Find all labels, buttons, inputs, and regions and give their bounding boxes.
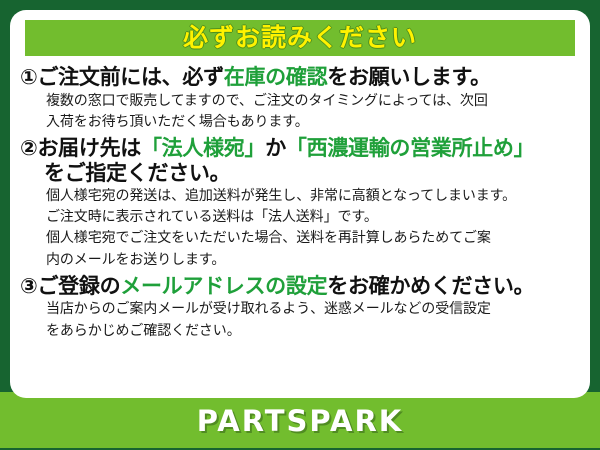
notice-item-headline: ①ご注文前には、必ず在庫の確認をお願いします。 bbox=[20, 66, 582, 90]
headline-text: ②お届け先は bbox=[20, 136, 141, 160]
notice-body-line: 複数の窓口で販売してますので、ご注文のタイミングによっては、次回 bbox=[46, 91, 582, 112]
page-title: 必ずお読みください bbox=[25, 20, 575, 56]
notice-body-line: をあらかじめご確認ください。 bbox=[46, 321, 582, 342]
notice-item-list: ①ご注文前には、必ず在庫の確認をお願いします。複数の窓口で販売してますので、ご注… bbox=[20, 66, 582, 346]
notice-item: ②お届け先は「法人様宛」か「西濃運輸の営業所止め」をご指定ください。個人様宅宛の… bbox=[20, 137, 582, 271]
notice-body-line: 入荷をお待ち頂いただく場合もあります。 bbox=[46, 112, 582, 133]
notice-body-line: 内のメールをお送りします。 bbox=[46, 250, 582, 271]
notice-body-line: 個人様宅宛でご注文をいただいた場合、送料を再計算しあらためてご案 bbox=[46, 228, 582, 249]
notice-item-headline: ②お届け先は「法人様宛」か「西濃運輸の営業所止め」 bbox=[20, 137, 582, 161]
brand-logo: PARTSPARK bbox=[0, 404, 600, 438]
notice-item-headline: ③ご登録のメールアドレスの設定をお確かめください。 bbox=[20, 275, 582, 299]
headline-accent-text: 在庫の確認 bbox=[224, 65, 328, 89]
header-banner: 必ずお読みください bbox=[25, 20, 575, 56]
notice-body-line: 当店からのご案内メールが受け取れるよう、迷惑メールなどの受信設定 bbox=[46, 299, 582, 320]
notice-item-headline-continuation: をご指定ください。 bbox=[20, 161, 582, 185]
notice-body-line: ご注文時に表示されている送料は「法人送料」です。 bbox=[46, 207, 582, 228]
headline-text: か bbox=[265, 136, 286, 160]
notice-item-body: 複数の窓口で販売してますので、ご注文のタイミングによっては、次回入荷をお待ち頂い… bbox=[20, 91, 582, 134]
headline-accent-text: 「法人様宛」 bbox=[141, 136, 265, 160]
headline-text: をお確かめください。 bbox=[327, 274, 534, 298]
notice-item: ①ご注文前には、必ず在庫の確認をお願いします。複数の窓口で販売してますので、ご注… bbox=[20, 66, 582, 133]
notice-item-body: 個人様宅宛の発送は、追加送料が発生し、非常に高額となってしまいます。ご注文時に表… bbox=[20, 186, 582, 271]
headline-text: をお願いします。 bbox=[327, 65, 491, 89]
notice-card: 必ずお読みください ①ご注文前には、必ず在庫の確認をお願いします。複数の窓口で販… bbox=[0, 0, 600, 450]
headline-text: ③ご登録の bbox=[20, 274, 120, 298]
headline-text: ①ご注文前には、必ず bbox=[20, 65, 224, 89]
notice-item: ③ご登録のメールアドレスの設定をお確かめください。当店からのご案内メールが受け取… bbox=[20, 275, 582, 342]
notice-body-line: 個人様宅宛の発送は、追加送料が発生し、非常に高額となってしまいます。 bbox=[46, 186, 582, 207]
headline-accent-text: 「西濃運輸の営業所止め」 bbox=[286, 136, 534, 160]
headline-accent-text: メールアドレスの設定 bbox=[120, 274, 327, 298]
notice-item-body: 当店からのご案内メールが受け取れるよう、迷惑メールなどの受信設定をあらかじめご確… bbox=[20, 299, 582, 342]
